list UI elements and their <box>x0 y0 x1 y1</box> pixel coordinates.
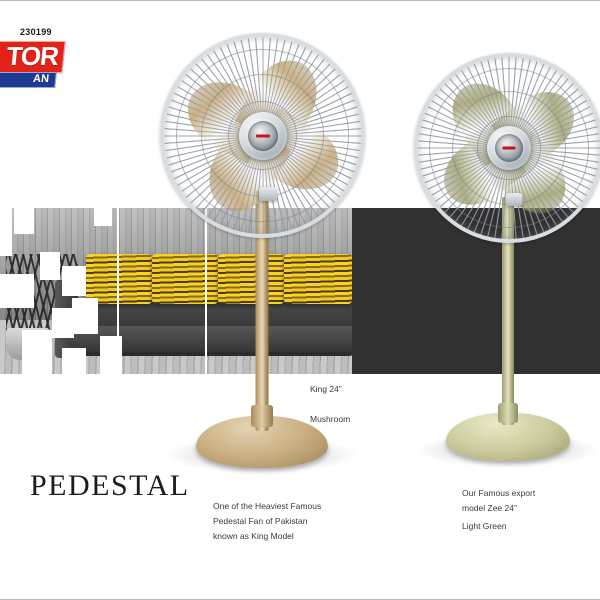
product-catalog-page: 230199 TOR AN <box>0 0 600 600</box>
page-title: PEDESTAL <box>30 469 190 503</box>
pole-collar-zee <box>498 403 518 423</box>
fan-motor-box-zee <box>506 193 523 206</box>
fan-guard-zee <box>414 53 600 243</box>
fan-hub-zee <box>487 126 531 170</box>
caption-zee-color: Light Green <box>462 519 506 534</box>
caption-zee-model: Our Famous export model Zee 24” <box>462 486 535 516</box>
hub-brand-mark <box>503 147 516 150</box>
caption-king-model: King 24” Mushroom <box>310 382 350 427</box>
caption-king-description: One of the Heaviest Famous Pedestal Fan … <box>213 499 321 544</box>
